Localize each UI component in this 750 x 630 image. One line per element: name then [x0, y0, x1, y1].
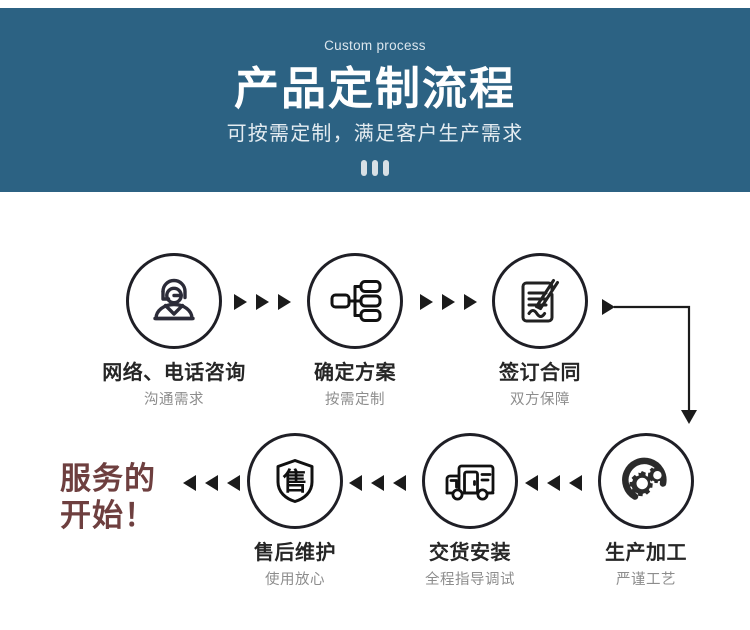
triangle-left-icon	[569, 475, 582, 491]
triangle-right-icon	[256, 294, 269, 310]
step-6-desc: 使用放心	[215, 573, 375, 588]
step-6-icon-circle: 售	[247, 433, 343, 529]
callout-line-1: 服务的	[60, 461, 156, 498]
step-5-delivery[interactable]: 交货安装 全程指导调试	[390, 433, 550, 588]
org-chart-icon	[324, 270, 386, 332]
step-4-title: 生产加工	[566, 543, 726, 563]
arrows-step6-to-callout	[183, 475, 240, 491]
step-2-plan[interactable]: 确定方案 按需定制	[275, 253, 435, 408]
triangle-left-icon	[205, 475, 218, 491]
triangle-left-icon	[393, 475, 406, 491]
banner-eyebrow: Custom process	[0, 39, 750, 53]
step-4-production[interactable]: 生产加工 严谨工艺	[566, 433, 726, 588]
triangle-right-icon	[602, 299, 615, 315]
headset-person-icon	[143, 270, 205, 332]
shield-glyph: 售	[282, 467, 307, 496]
step-3-desc: 双方保障	[460, 393, 620, 408]
triangle-down-icon	[681, 410, 697, 424]
process-infographic-page: Custom process 产品定制流程 可按需定制，满足客户生产需求	[0, 0, 750, 630]
step-2-desc: 按需定制	[275, 393, 435, 408]
page-title: 产品定制流程	[0, 66, 750, 112]
triangle-right-icon	[442, 294, 455, 310]
step-3-contract[interactable]: 签订合同 双方保障	[460, 253, 620, 408]
header-banner: Custom process 产品定制流程 可按需定制，满足客户生产需求	[0, 8, 750, 192]
step-3-title: 签订合同	[460, 363, 620, 383]
banner-dot	[383, 160, 389, 176]
step-4-icon-circle	[598, 433, 694, 529]
triangle-left-icon	[183, 475, 196, 491]
step-5-desc: 全程指导调试	[390, 573, 550, 588]
step-3-icon-circle	[492, 253, 588, 349]
banner-dots-decoration	[0, 160, 750, 176]
step-1-title: 网络、电话咨询	[94, 363, 254, 383]
gears-icon	[614, 449, 678, 513]
step-6-title: 售后维护	[215, 543, 375, 563]
callout-line-2: 开始！	[60, 498, 156, 535]
step-5-icon-circle	[422, 433, 518, 529]
banner-dot	[372, 160, 378, 176]
triangle-right-icon	[234, 294, 247, 310]
step-1-desc: 沟通需求	[94, 393, 254, 408]
banner-dot	[361, 160, 367, 176]
step-6-after-sales[interactable]: 售 售后维护 使用放心	[215, 433, 375, 588]
elbow-connector-step3-to-step4	[598, 288, 718, 433]
banner-subtitle: 可按需定制，满足客户生产需求	[0, 124, 750, 144]
step-2-title: 确定方案	[275, 363, 435, 383]
step-1-consultation[interactable]: 网络、电话咨询 沟通需求	[94, 253, 254, 408]
step-1-icon-circle	[126, 253, 222, 349]
service-start-callout: 服务的 开始！	[60, 461, 156, 534]
delivery-truck-icon	[438, 449, 502, 513]
contract-sign-icon	[509, 270, 571, 332]
triangle-right-icon	[420, 294, 433, 310]
step-5-title: 交货安装	[390, 543, 550, 563]
shield-after-sales-icon: 售	[264, 450, 326, 512]
step-4-desc: 严谨工艺	[566, 573, 726, 588]
step-2-icon-circle	[307, 253, 403, 349]
triangle-left-icon	[227, 475, 240, 491]
